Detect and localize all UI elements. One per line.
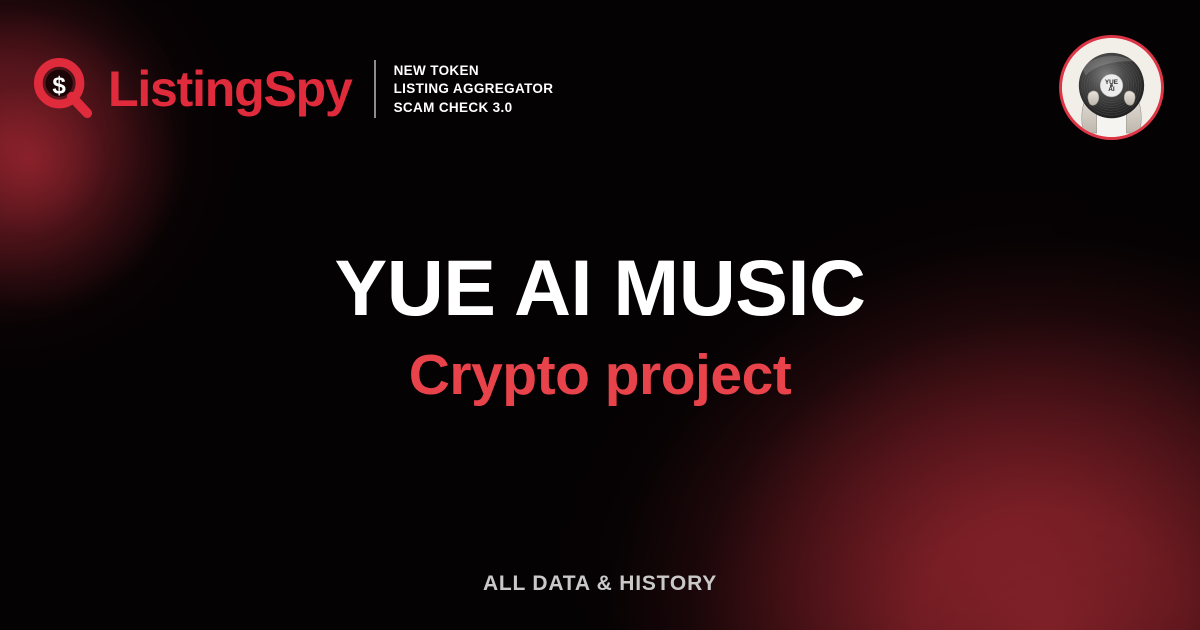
vinyl-record-hands-avatar: YUE AI <box>1062 38 1161 137</box>
brand-logo[interactable]: $ ListingSpy <box>33 58 352 120</box>
footer-caption: ALL DATA & HISTORY <box>0 572 1200 596</box>
header-divider <box>374 60 376 118</box>
magnifier-dollar-icon: $ <box>33 58 95 120</box>
og-card-canvas: $ ListingSpy NEW TOKEN LISTING AGGREGATO… <box>0 0 1200 630</box>
page-title: YUE AI MUSIC <box>0 248 1200 327</box>
brand-name: ListingSpy <box>108 64 352 114</box>
hero-block: YUE AI MUSIC Crypto project <box>0 248 1200 404</box>
header-tagline: NEW TOKEN LISTING AGGREGATOR SCAM CHECK … <box>394 63 554 116</box>
page-subtitle: Crypto project <box>0 347 1200 404</box>
svg-text:$: $ <box>52 72 66 99</box>
tagline-line-1: NEW TOKEN <box>394 63 554 79</box>
svg-text:AI: AI <box>1108 86 1115 93</box>
tagline-line-3: SCAM CHECK 3.0 <box>394 100 554 116</box>
avatar[interactable]: YUE AI <box>1059 35 1164 140</box>
header: $ ListingSpy NEW TOKEN LISTING AGGREGATO… <box>33 46 553 132</box>
tagline-line-2: LISTING AGGREGATOR <box>394 81 554 97</box>
footer: ALL DATA & HISTORY <box>0 572 1200 596</box>
